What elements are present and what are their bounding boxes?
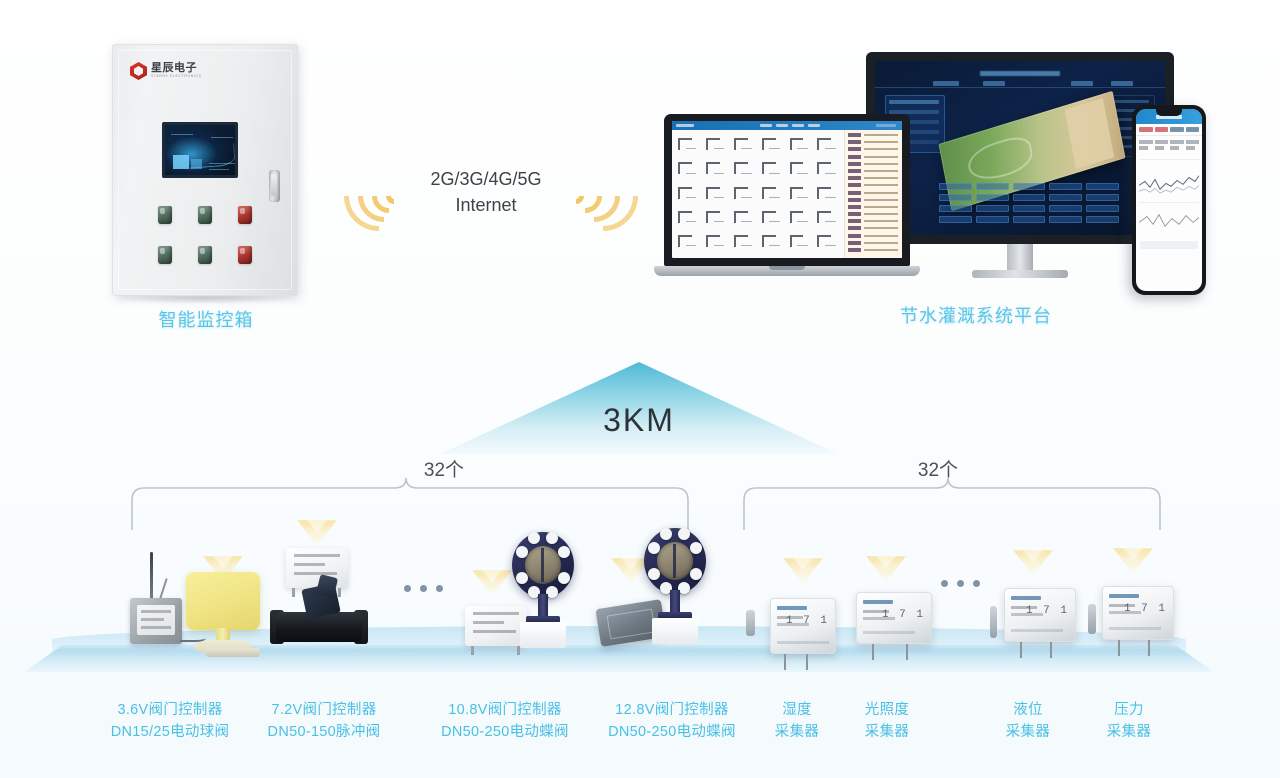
bracket-left-count: 32个 — [409, 455, 479, 482]
network-label: 2G/3G/4G/5G Internet — [402, 167, 570, 218]
signal-cone-icon — [866, 556, 906, 582]
butterfly-valve-disc — [512, 532, 574, 598]
laptop-side-list[interactable] — [844, 130, 902, 258]
valve-stem — [670, 590, 680, 614]
diagram-canvas: 星辰电子 STARRY ELECTRONICS — [0, 0, 1280, 778]
signal-cone-icon — [783, 558, 823, 584]
caption-line2: 采集器 — [989, 722, 1067, 744]
valve-pedestal — [520, 622, 566, 648]
phone-notch — [1156, 109, 1182, 116]
caption-line1: 液位 — [989, 700, 1067, 722]
bracket-left — [130, 474, 690, 532]
signal-cone-icon — [1113, 548, 1153, 574]
controller-body — [286, 548, 348, 588]
device-sensor-pressure[interactable]: 1 7 1 — [1088, 586, 1188, 666]
caption-sensor-pressure: 压力 采集器 — [1090, 700, 1168, 744]
caption-line2: 采集器 — [848, 722, 926, 744]
caption-valve-12-8v: 12.8V阀门控制器 DN50-250电动蝶阀 — [597, 700, 747, 744]
phone-screen — [1136, 109, 1202, 291]
indicator-light — [198, 206, 212, 224]
indicator-light — [158, 246, 172, 264]
phone-line-chart-upper — [1139, 159, 1199, 199]
butterfly-valve-plate — [657, 542, 693, 580]
phone-footer-bar — [1140, 241, 1198, 249]
caption-line1: 湿度 — [758, 700, 836, 722]
indicator-light — [238, 206, 252, 224]
monitor-base — [972, 270, 1068, 278]
sensor-collector-body: 1 7 1 — [856, 592, 932, 644]
monitor-stand — [1007, 244, 1033, 272]
network-label-line1: 2G/3G/4G/5G — [402, 167, 570, 193]
dashboard-data-grid — [939, 183, 1119, 223]
caption-line1: 3.6V阀门控制器 — [95, 700, 245, 722]
brand-logo: 星辰电子 STARRY ELECTRONICS — [130, 62, 201, 80]
signal-cone-icon — [297, 520, 337, 546]
bracket-right-count: 32个 — [903, 455, 973, 482]
valve-pedestal — [652, 618, 698, 644]
caption-valve-10-8v: 10.8V阀门控制器 DN50-250电动蝶阀 — [430, 700, 580, 744]
logo-hexagon-icon — [130, 62, 147, 80]
device-sensor-illuminance[interactable]: 1 7 1 — [852, 592, 952, 666]
sensor-collector-body: 1 7 1 — [1102, 586, 1174, 640]
sensor-probe — [746, 610, 755, 636]
ellipsis-left — [404, 585, 443, 592]
sensor-collector-body: 1 7 1 — [1004, 588, 1076, 642]
laptop-trackpad-notch — [769, 266, 805, 270]
range-label: 3KM — [440, 402, 838, 439]
laptop-app-toolbar — [672, 121, 902, 130]
smartphone[interactable] — [1132, 105, 1206, 295]
sensor-probe — [990, 606, 997, 638]
device-valve-3-6v[interactable] — [186, 572, 266, 662]
device-gateway[interactable] — [128, 598, 188, 658]
control-box-caption: 智能监控箱 — [112, 308, 300, 332]
caption-line2: DN50-250电动蝶阀 — [597, 722, 747, 744]
antenna-icon — [150, 552, 153, 600]
sensor-probe — [1088, 604, 1096, 634]
caption-line1: 12.8V阀门控制器 — [597, 700, 747, 722]
logo-text-cn: 星辰电子 — [151, 63, 201, 74]
phone-tab-row[interactable] — [1136, 124, 1202, 136]
caption-line2: DN50-250电动蝶阀 — [430, 722, 580, 744]
caption-line2: 采集器 — [1090, 722, 1168, 744]
phone-stat-row — [1136, 136, 1202, 156]
valve-yellow-body — [186, 572, 260, 630]
dashboard-title-bar — [980, 71, 1060, 76]
signal-cone-icon — [472, 570, 512, 596]
caption-sensor-level: 液位 采集器 — [989, 700, 1067, 744]
platform-caption: 节水灌溉系统平台 — [856, 304, 1096, 328]
sensor-readout: 1 7 1 — [1124, 603, 1167, 615]
gateway-body — [130, 598, 182, 644]
control-box-lcd-screen[interactable] — [162, 122, 238, 178]
caption-line1: 光照度 — [848, 700, 926, 722]
sensor-readout: 1 7 1 — [786, 615, 829, 627]
caption-sensor-illuminance: 光照度 采集器 — [848, 700, 926, 744]
lcd-display-content — [165, 125, 235, 175]
sensor-readout: 1 7 1 — [882, 609, 925, 621]
valve-pipe — [206, 648, 260, 657]
caption-line2: 采集器 — [758, 722, 836, 744]
indicator-light-panel — [158, 206, 252, 286]
logo-text-en: STARRY ELECTRONICS — [151, 75, 201, 79]
laptop-screen — [664, 114, 910, 266]
device-valve-10-8v[interactable] — [512, 532, 578, 652]
sensor-readout: 1 7 1 — [1026, 605, 1069, 617]
network-label-line2: Internet — [402, 193, 570, 219]
butterfly-valve-plate — [525, 546, 561, 584]
caption-sensor-humidity: 湿度 采集器 — [758, 700, 836, 744]
caption-line1: 压力 — [1090, 700, 1168, 722]
laptop-plot-grid — [672, 130, 844, 258]
caption-valve-3-6v: 3.6V阀门控制器 DN15/25电动球阀 — [95, 700, 245, 744]
caption-valve-7-2v: 7.2V阀门控制器 DN50-150脉冲阀 — [249, 700, 399, 744]
bracket-right — [742, 474, 1162, 532]
phone-line-chart-lower — [1139, 202, 1199, 236]
device-valve-12-8v[interactable] — [644, 528, 710, 648]
cabinet-handle[interactable] — [269, 170, 280, 202]
valve-stem — [538, 594, 548, 618]
sensor-collector-body: 1 7 1 — [770, 598, 836, 654]
caption-line2: DN15/25电动球阀 — [95, 722, 245, 744]
device-valve-7-2v[interactable] — [276, 588, 372, 650]
smart-control-box[interactable]: 星辰电子 STARRY ELECTRONICS — [112, 44, 298, 296]
signal-cone-icon — [1013, 550, 1053, 576]
ellipsis-right — [941, 580, 980, 587]
caption-line1: 7.2V阀门控制器 — [249, 700, 399, 722]
indicator-light — [238, 246, 252, 264]
indicator-light — [158, 206, 172, 224]
caption-line2: DN50-150脉冲阀 — [249, 722, 399, 744]
device-sensor-level[interactable]: 1 7 1 — [990, 588, 1090, 668]
butterfly-valve-disc — [644, 528, 706, 594]
laptop[interactable] — [654, 114, 920, 282]
indicator-light — [198, 246, 212, 264]
caption-line1: 10.8V阀门控制器 — [430, 700, 580, 722]
